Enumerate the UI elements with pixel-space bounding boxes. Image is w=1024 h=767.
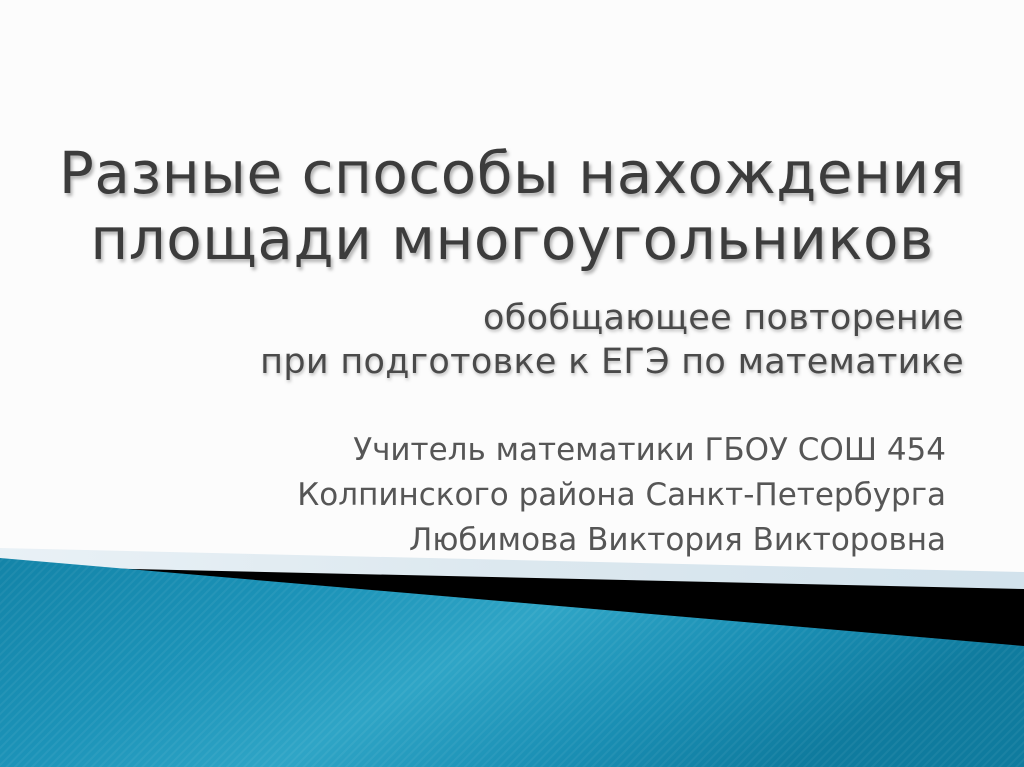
title-line-1: Разные способы нахождения <box>42 140 982 206</box>
author-credits: Учитель математики ГБОУ СОШ 454 Колпинск… <box>42 428 982 563</box>
slide-content: Разные способы нахождения площади многоу… <box>0 0 1024 767</box>
subtitle-line-2: при подготовке к ЕГЭ по математике <box>42 340 964 384</box>
author-line-1: Учитель математики ГБОУ СОШ 454 <box>42 428 946 473</box>
author-line-3: Любимова Виктория Викторовна <box>42 518 946 563</box>
subtitle-line-1: обобщающее повторение <box>42 296 964 340</box>
author-line-2: Колпинского района Санкт-Петербурга <box>42 473 946 518</box>
title-slide: Разные способы нахождения площади многоу… <box>0 0 1024 767</box>
page-subtitle: обобщающее повторение при подготовке к Е… <box>42 296 982 385</box>
page-title: Разные способы нахождения площади многоу… <box>42 140 982 272</box>
title-line-2: площади многоугольников <box>42 206 982 272</box>
